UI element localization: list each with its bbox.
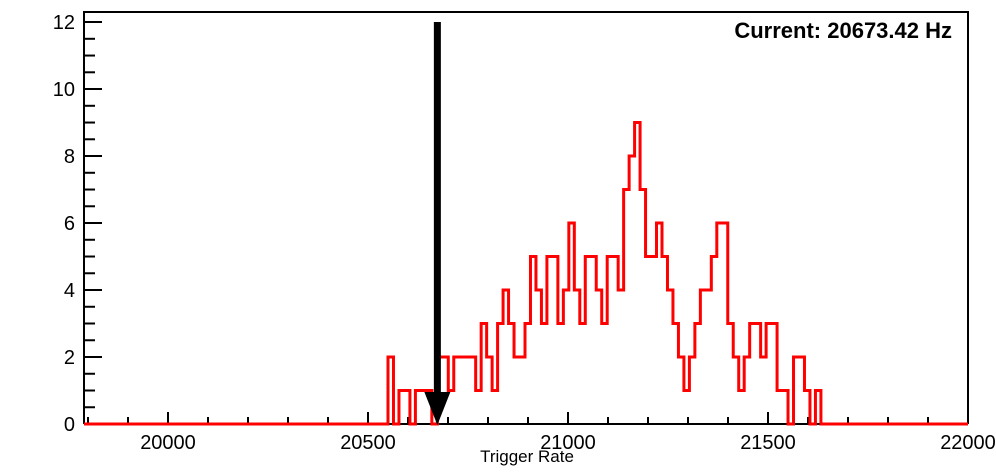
y-tick-label: 8: [64, 146, 75, 168]
x-axis-title: Trigger Rate: [480, 447, 574, 466]
histogram-canvas: 2000020500210002150022000 024681012 Trig…: [0, 0, 996, 472]
y-tick-label: 2: [64, 347, 75, 369]
y-tick-label: 0: [64, 414, 75, 436]
trigger-rate-histogram: 2000020500210002150022000 024681012 Trig…: [0, 0, 996, 472]
y-tick-label: 12: [53, 12, 75, 34]
x-tick-label: 20500: [340, 432, 396, 454]
x-tick-label: 22000: [940, 432, 996, 454]
canvas-background: [0, 0, 996, 472]
x-tick-label: 20000: [140, 432, 196, 454]
y-tick-label: 4: [64, 280, 75, 302]
x-tick-label: 21500: [740, 432, 796, 454]
y-tick-label: 6: [64, 213, 75, 235]
current-rate-readout: Current: 20673.42 Hz: [734, 18, 952, 43]
y-tick-label: 10: [53, 79, 75, 101]
